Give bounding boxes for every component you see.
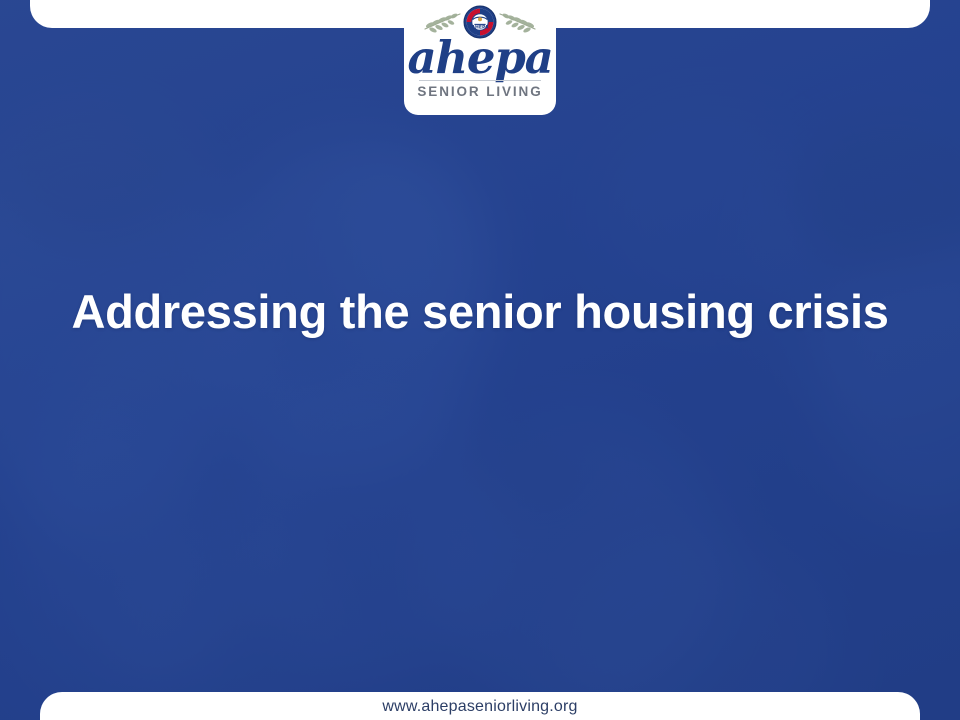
logo-lockup: AHEPA	[409, 5, 551, 99]
logo-card: AHEPA	[404, 0, 556, 115]
ahepa-crest-icon: AHEPA	[463, 5, 497, 39]
presentation-slide: AHEPA	[0, 0, 960, 720]
laurel-branch-left-icon	[423, 9, 463, 35]
crest-row: AHEPA	[409, 5, 551, 39]
bottom-white-bar: www.ahepaseniorliving.org	[40, 692, 920, 720]
website-url[interactable]: www.ahepaseniorliving.org	[382, 698, 577, 716]
laurel-branch-right-icon	[497, 9, 537, 35]
logo-tagline: SENIOR LIVING	[417, 84, 542, 99]
logo-divider	[419, 80, 541, 81]
logo-wordmark: ahepa	[407, 36, 552, 79]
slide-title: Addressing the senior housing crisis	[0, 282, 960, 342]
svg-text:AHEPA: AHEPA	[471, 24, 488, 30]
